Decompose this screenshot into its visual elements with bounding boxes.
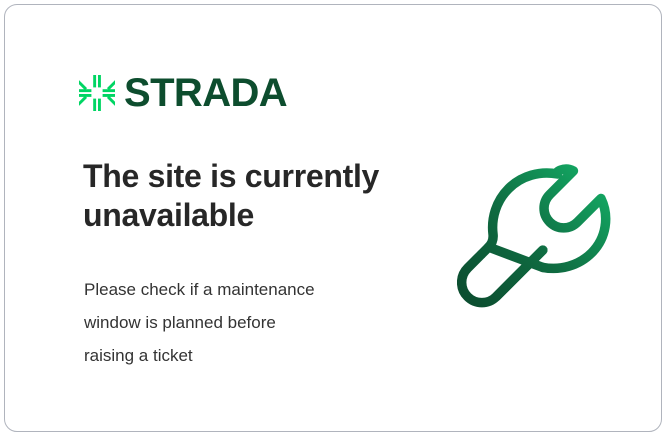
description-line: window is planned before xyxy=(84,306,404,339)
error-card: STRADA The site is currently unavailable… xyxy=(4,4,662,432)
wrench-icon xyxy=(457,153,623,321)
strada-asterisk-icon xyxy=(79,75,115,111)
description-line: Please check if a maintenance xyxy=(84,273,404,306)
page-title: The site is currently unavailable xyxy=(83,157,423,235)
page-description: Please check if a maintenance window is … xyxy=(84,273,404,372)
brand-lockup: STRADA xyxy=(79,73,287,113)
error-page: STRADA The site is currently unavailable… xyxy=(0,0,666,436)
description-line: raising a ticket xyxy=(84,339,404,372)
brand-wordmark: STRADA xyxy=(124,73,287,113)
